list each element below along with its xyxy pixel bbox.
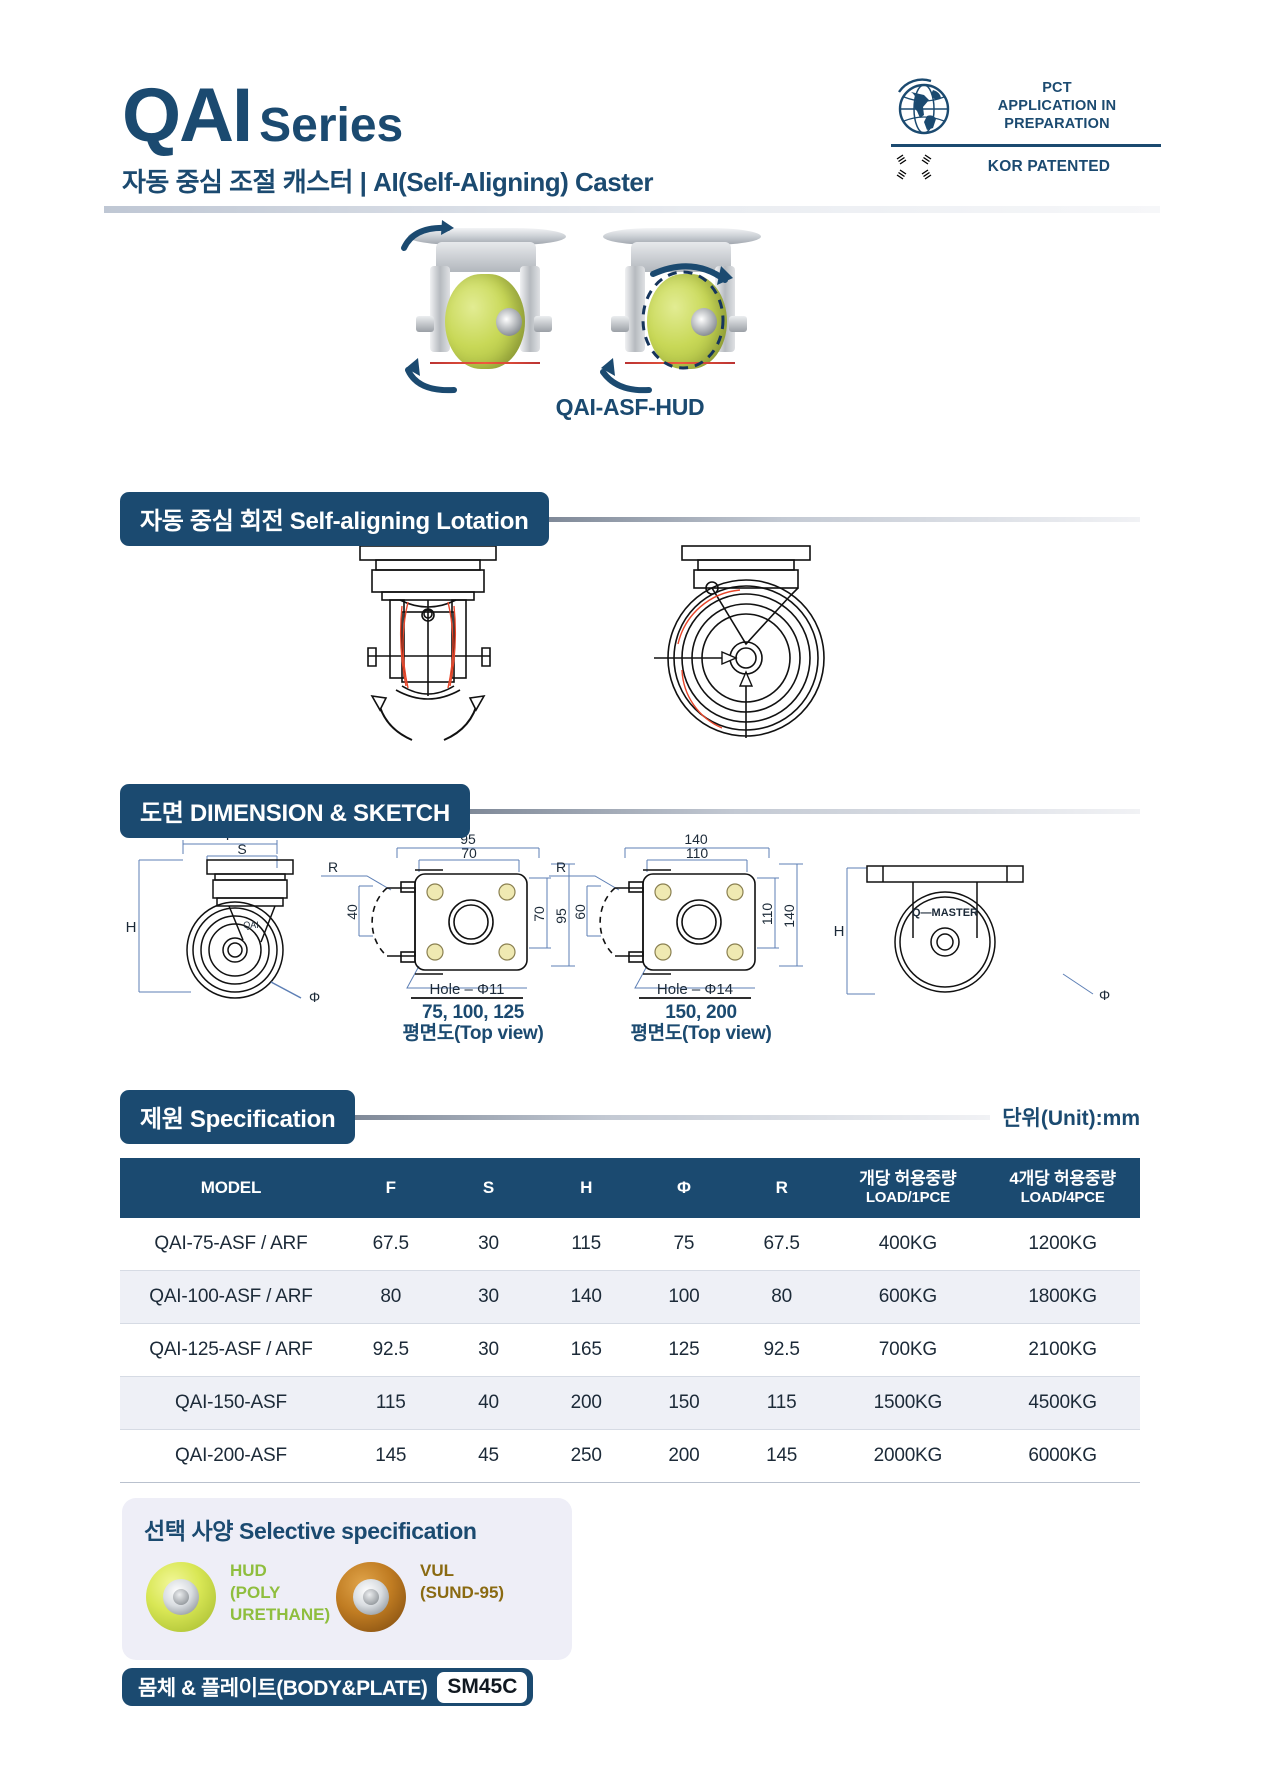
cell-h: 200 <box>537 1376 635 1429</box>
catalog-page: QAI Series 자동 중심 조절 캐스터 | AI(Self-Aligni… <box>0 0 1261 1790</box>
cell-model: QAI-75-ASF / ARF <box>120 1218 342 1271</box>
cell-h: 140 <box>537 1270 635 1323</box>
table-body: QAI-75-ASF / ARF 67.5 30 115 75 67.5 400… <box>120 1218 1140 1483</box>
brand-series-label: Series <box>259 103 403 149</box>
cell-load4: 6000KG <box>985 1429 1140 1482</box>
cell-model: QAI-200-ASF <box>120 1429 342 1482</box>
cell-r: 145 <box>733 1429 831 1482</box>
header-divider <box>104 206 1160 213</box>
caption-sizes-large: 150, 200 <box>621 1002 781 1023</box>
cell-load4: 4500KG <box>985 1376 1140 1429</box>
cell-f: 145 <box>342 1429 440 1482</box>
cell-s: 30 <box>440 1323 538 1376</box>
dim-label-s: S <box>237 841 246 857</box>
cell-load1: 1500KG <box>831 1376 986 1429</box>
wheel-hud-name: HUD <box>230 1561 267 1580</box>
caster-photo-left <box>400 222 575 392</box>
cell-s: 30 <box>440 1270 538 1323</box>
dim-hole-large: Hole – Φ14 <box>657 981 733 998</box>
dim-left-60: 60 <box>572 904 588 920</box>
cell-h: 115 <box>537 1218 635 1271</box>
section-title-specification: 제원 Specification <box>120 1090 355 1144</box>
wheel-core <box>363 1589 379 1605</box>
cell-phi: 125 <box>635 1323 733 1376</box>
brand-title: QAI <box>122 80 251 152</box>
section-rule <box>466 809 1140 814</box>
cell-load4: 1800KG <box>985 1270 1140 1323</box>
caption-top-view-large: 150, 200 평면도(Top view) <box>621 1002 781 1045</box>
body-plate-value: SM45C <box>437 1672 527 1703</box>
section-header-self-aligning: 자동 중심 회전 Self-aligning Lotation <box>120 492 1140 546</box>
cell-f: 115 <box>342 1376 440 1429</box>
table-row: QAI-200-ASF 145 45 250 200 145 2000KG 60… <box>120 1429 1140 1482</box>
dim-right-140: 140 <box>781 904 797 928</box>
section-rule <box>545 517 1141 522</box>
col-header-s: S <box>440 1158 538 1218</box>
dim-label-phi-rigid: Φ <box>1099 987 1110 1003</box>
cell-phi: 100 <box>635 1270 733 1323</box>
dimension-drawing-svg: F S H QAI Φ <box>125 830 1135 1020</box>
wheel-option-vul: VUL (SUND-95) <box>334 1560 504 1634</box>
section-header-specification: 제원 Specification 단위(Unit):mm <box>120 1090 1140 1144</box>
selective-spec-title: 선택 사양 Selective specification <box>144 1512 477 1546</box>
cell-load1: 400KG <box>831 1218 986 1271</box>
wheel-hud-detail-1: (POLY <box>230 1583 280 1602</box>
selective-specification-box: 선택 사양 Selective specification HUD (POLY … <box>122 1498 572 1660</box>
wheel-hud-label: HUD (POLY URETHANE) <box>230 1560 330 1625</box>
self-aligning-drawing <box>250 540 950 755</box>
brand-block: QAI Series 자동 중심 조절 캐스터 | AI(Self-Aligni… <box>122 80 653 199</box>
table-row: QAI-125-ASF / ARF 92.5 30 165 125 92.5 7… <box>120 1323 1140 1376</box>
self-aligning-sketches <box>250 540 950 755</box>
pct-line-3: PREPARATION <box>1004 116 1110 132</box>
korea-flag-icon <box>891 152 937 182</box>
dim-hole-small: Hole – Φ11 <box>429 981 504 998</box>
cell-h: 165 <box>537 1323 635 1376</box>
col-header-load1-ko: 개당 허용중량 <box>859 1169 956 1188</box>
body-plate-bar: 몸체 & 플레이트(BODY&PLATE) SM45C <box>122 1668 533 1706</box>
caption-sizes-small: 75, 100, 125 <box>393 1002 553 1023</box>
dim-inner-110: 110 <box>686 845 709 861</box>
dim-label-phi: Φ <box>309 989 320 1005</box>
col-header-h: H <box>537 1158 635 1218</box>
section-title-self-aligning: 자동 중심 회전 Self-aligning Lotation <box>120 492 549 546</box>
globe-icon <box>891 76 953 138</box>
col-header-load4: 4개당 허용중량 LOAD/4PCE <box>985 1158 1140 1218</box>
pct-status-text: PCT APPLICATION IN PREPARATION <box>953 80 1161 133</box>
cell-r: 67.5 <box>733 1218 831 1271</box>
cell-phi: 200 <box>635 1429 733 1482</box>
dim-body-text-qmaster: Q—MASTER <box>912 907 978 919</box>
cell-f: 92.5 <box>342 1323 440 1376</box>
cell-r: 80 <box>733 1270 831 1323</box>
col-header-load4-en: LOAD/4PCE <box>987 1189 1138 1207</box>
wheel-vul-label: VUL (SUND-95) <box>420 1560 504 1604</box>
cell-model: QAI-100-ASF / ARF <box>120 1270 342 1323</box>
caster-photo-right <box>595 222 770 392</box>
wheel-vul-name: VUL <box>420 1561 454 1580</box>
product-caption: QAI-ASF-HUD <box>380 394 880 421</box>
dim-label-r-small: R <box>328 859 338 875</box>
wheel-hud-icon <box>144 1560 218 1634</box>
badge-divider <box>891 144 1161 147</box>
pct-line-2: APPLICATION IN <box>998 98 1117 114</box>
table-row: QAI-150-ASF 115 40 200 150 115 1500KG 45… <box>120 1376 1140 1429</box>
kor-patented-text: KOR PATENTED <box>937 158 1161 176</box>
specification-table: MODEL F S H Φ R 개당 허용중량 LOAD/1PCE 4개당 허용… <box>120 1158 1140 1483</box>
dim-right-95: 95 <box>553 908 569 924</box>
dim-left-40: 40 <box>344 904 360 920</box>
cell-load1: 2000KG <box>831 1429 986 1482</box>
table-header: MODEL F S H Φ R 개당 허용중량 LOAD/1PCE 4개당 허용… <box>120 1158 1140 1218</box>
cell-load1: 700KG <box>831 1323 986 1376</box>
patent-badge: PCT APPLICATION IN PREPARATION <box>891 76 1161 182</box>
dim-label-h-rigid: H <box>834 923 845 940</box>
col-header-model: MODEL <box>120 1158 342 1218</box>
dimension-drawings: F S H QAI Φ <box>125 830 1135 1020</box>
section-title-dimension: 도면 DIMENSION & SKETCH <box>120 784 470 838</box>
col-header-r: R <box>733 1158 831 1218</box>
cell-s: 45 <box>440 1429 538 1482</box>
cell-phi: 150 <box>635 1376 733 1429</box>
dim-right-110: 110 <box>759 903 775 926</box>
cell-r: 115 <box>733 1376 831 1429</box>
section-rule <box>351 1115 990 1120</box>
cell-f: 67.5 <box>342 1218 440 1271</box>
col-header-load4-ko: 4개당 허용중량 <box>1009 1169 1115 1188</box>
wheel-option-hud: HUD (POLY URETHANE) <box>144 1560 330 1634</box>
caption-top-view-small: 75, 100, 125 평면도(Top view) <box>393 1002 553 1045</box>
col-header-load1: 개당 허용중량 LOAD/1PCE <box>831 1158 986 1218</box>
table-row: QAI-75-ASF / ARF 67.5 30 115 75 67.5 400… <box>120 1218 1140 1271</box>
col-header-phi: Φ <box>635 1158 733 1218</box>
body-plate-label: 몸체 & 플레이트(BODY&PLATE) <box>138 1672 427 1702</box>
cell-load1: 600KG <box>831 1270 986 1323</box>
cell-f: 80 <box>342 1270 440 1323</box>
rotation-arrow-icons <box>595 222 770 397</box>
wheel-vul-icon <box>334 1560 408 1634</box>
wheel-core <box>173 1589 189 1605</box>
col-header-f: F <box>342 1158 440 1218</box>
cell-s: 30 <box>440 1218 538 1271</box>
cell-load4: 1200KG <box>985 1218 1140 1271</box>
pct-line-1: PCT <box>1042 80 1072 96</box>
cell-r: 92.5 <box>733 1323 831 1376</box>
cell-h: 250 <box>537 1429 635 1482</box>
caption-label-large: 평면도(Top view) <box>621 1023 781 1044</box>
table-header-row: MODEL F S H Φ R 개당 허용중량 LOAD/1PCE 4개당 허용… <box>120 1158 1140 1218</box>
cell-load4: 2100KG <box>985 1323 1140 1376</box>
dim-body-text-qai: QAI <box>243 920 259 930</box>
dim-label-r-large: R <box>556 859 566 875</box>
wheel-vul-detail-1: (SUND-95) <box>420 1583 504 1602</box>
dim-right-70: 70 <box>531 906 547 922</box>
cell-model: QAI-125-ASF / ARF <box>120 1323 342 1376</box>
caption-label-small: 평면도(Top view) <box>393 1023 553 1044</box>
unit-note: 단위(Unit):mm <box>1002 1102 1140 1132</box>
product-photo-group: QAI-ASF-HUD <box>380 222 880 412</box>
page-subtitle: 자동 중심 조절 캐스터 | AI(Self-Aligning) Caster <box>122 162 653 199</box>
rotation-arrow-icons <box>400 222 575 397</box>
cell-model: QAI-150-ASF <box>120 1376 342 1429</box>
dim-inner-70: 70 <box>461 845 477 861</box>
table-row: QAI-100-ASF / ARF 80 30 140 100 80 600KG… <box>120 1270 1140 1323</box>
page-header: QAI Series 자동 중심 조절 캐스터 | AI(Self-Aligni… <box>0 0 1261 230</box>
dim-label-h: H <box>126 919 137 936</box>
wheel-hud-detail-2: URETHANE) <box>230 1605 330 1624</box>
cell-s: 40 <box>440 1376 538 1429</box>
col-header-load1-en: LOAD/1PCE <box>833 1189 984 1207</box>
cell-phi: 75 <box>635 1218 733 1271</box>
